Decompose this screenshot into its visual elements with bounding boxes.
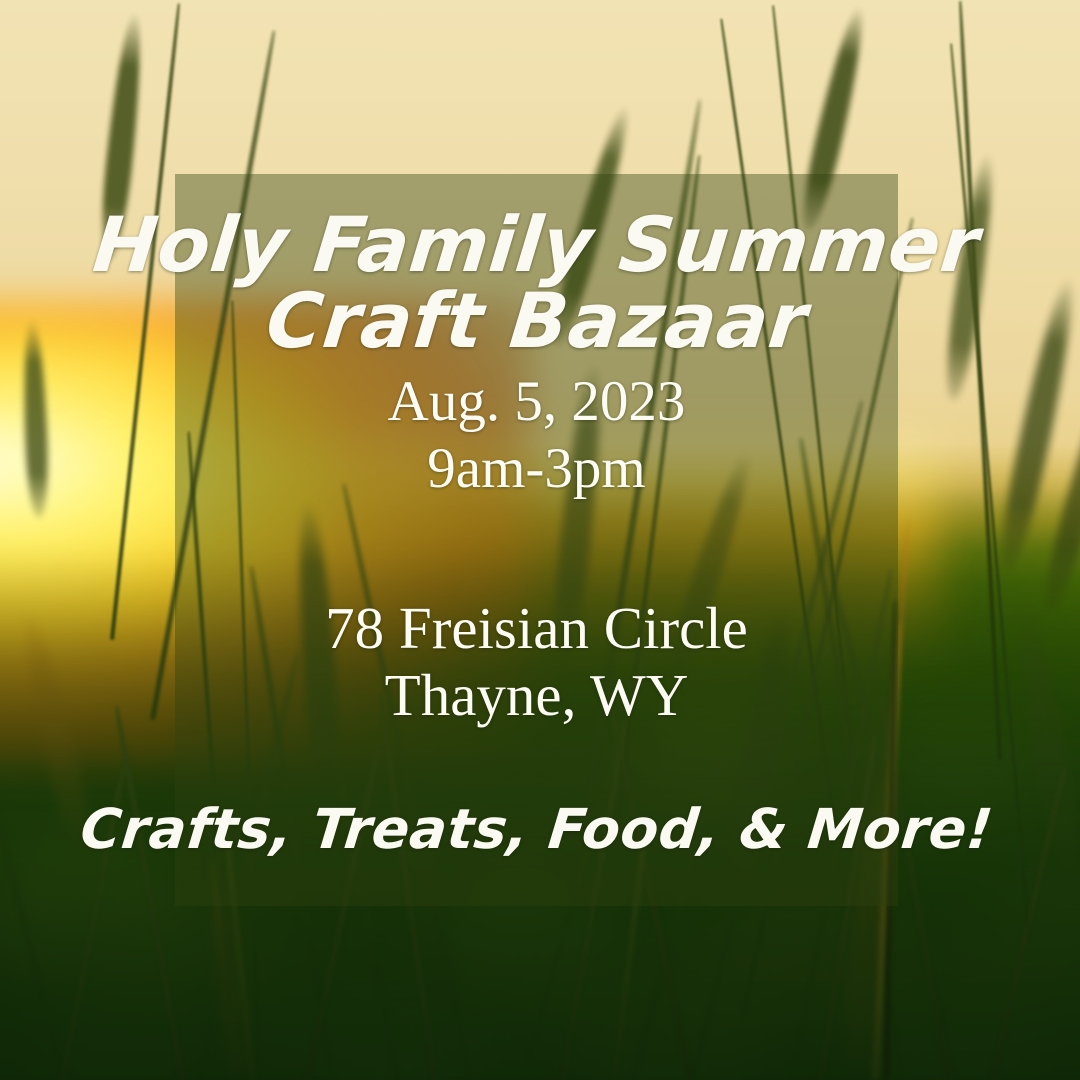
event-title-line-2: Craft Bazaar (263, 284, 811, 358)
flyer-canvas: Holy Family Summer Craft Bazaar Aug. 5, … (0, 0, 1080, 1080)
event-address-street: 78 Freisian Circle (325, 596, 748, 661)
event-address-city-state: Thayne, WY (385, 663, 689, 728)
event-time: 9am-3pm (427, 438, 645, 500)
event-title-line-1: Holy Family Summer (90, 208, 983, 282)
event-date: Aug. 5, 2023 (388, 371, 686, 433)
event-tagline: Crafts, Treats, Food, & More! (78, 802, 995, 857)
flyer-content: Holy Family Summer Craft Bazaar Aug. 5, … (175, 174, 898, 906)
